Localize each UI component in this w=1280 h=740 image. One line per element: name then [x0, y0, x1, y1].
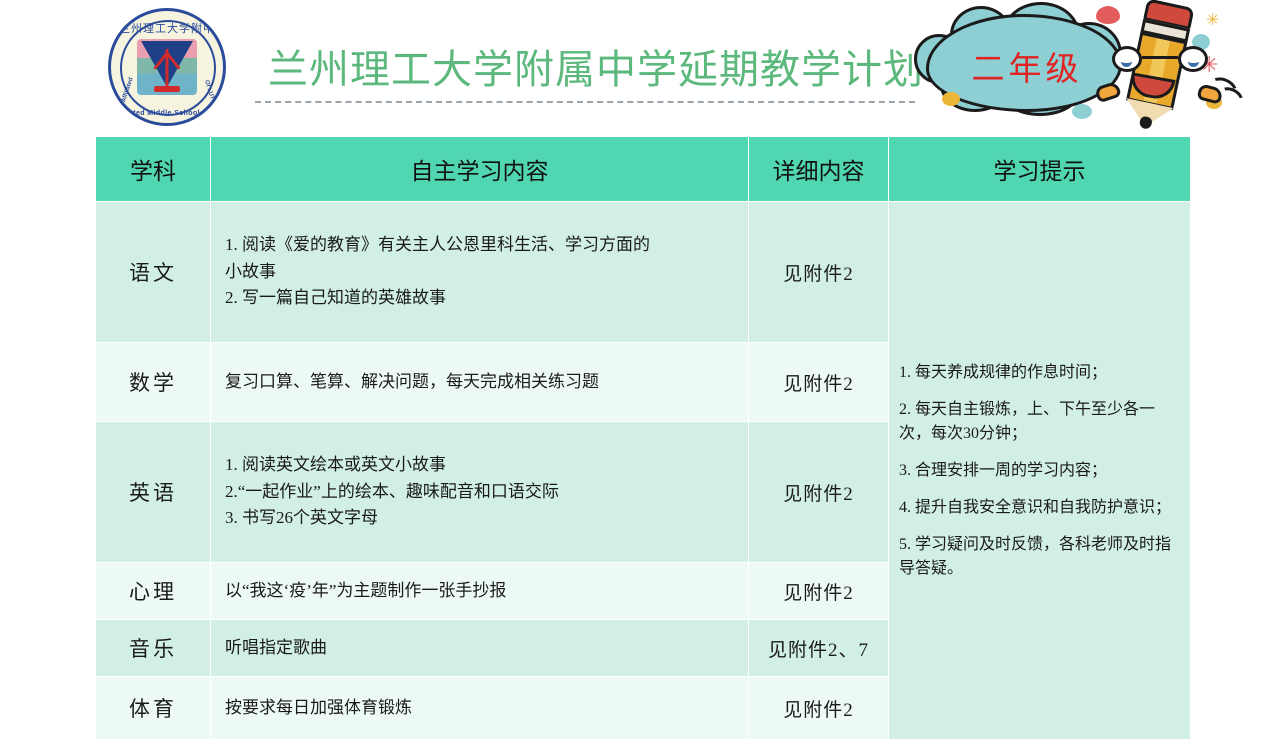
eye-right-icon [1188, 55, 1199, 67]
cell-detail: 见附件2 [749, 677, 889, 740]
cell-subject: 英语 [96, 422, 211, 563]
glasses-bridge-shape [1142, 56, 1178, 59]
table-header-row: 学科 自主学习内容 详细内容 学习提示 [96, 137, 1191, 202]
logo-shield-emblem [137, 39, 197, 95]
table-row: 语文 1. 阅读《爱的教育》有关主人公恩里科生活、学习方面的 小故事 2. 写一… [96, 202, 1191, 343]
content-line: 3. 书写26个英文字母 [225, 505, 748, 532]
content-line: 1. 阅读《爱的教育》有关主人公恩里科生活、学习方面的 [225, 232, 748, 259]
cell-detail: 见附件2 [749, 563, 889, 620]
confetti-icon [1096, 6, 1120, 24]
logo-chinese-name: 兰州理工大学附中 [111, 20, 223, 36]
cell-content: 以“我这‘疫’年”为主题制作一张手抄报 [211, 563, 749, 620]
column-header-subject: 学科 [96, 137, 211, 202]
eye-left-icon [1121, 55, 1132, 67]
content-line: 2. 写一篇自己知道的英雄故事 [225, 285, 748, 312]
confetti-icon [942, 92, 960, 106]
content-line: 小故事 [225, 259, 748, 286]
cell-detail: 见附件2 [749, 202, 889, 343]
tip-item: 4. 提升自我安全意识和自我防护意识； [899, 496, 1182, 520]
content-line: 复习口算、笔算、解决问题，每天完成相关练习题 [225, 369, 748, 396]
cell-subject: 数学 [96, 343, 211, 422]
content-line: 1. 阅读英文绘本或英文小故事 [225, 452, 748, 479]
cell-study-tips: 1. 每天养成规律的作息时间； 2. 每天自主锻炼，上、下午至少各一次，每次30… [889, 202, 1191, 740]
content-line: 按要求每日加强体育锻炼 [225, 695, 748, 722]
cell-content: 1. 阅读《爱的教育》有关主人公恩里科生活、学习方面的 小故事 2. 写一篇自己… [211, 202, 749, 343]
column-header-detail: 详细内容 [749, 137, 889, 202]
tip-item: 5. 学习疑问及时反馈，各科老师及时指导答疑。 [899, 533, 1182, 581]
cell-detail: 见附件2、7 [749, 620, 889, 677]
content-line: 2.“一起作业”上的绘本、趣味配音和口语交际 [225, 479, 748, 506]
logo-base-shape [154, 86, 180, 92]
glasses-icon [1112, 46, 1208, 72]
grade-label: 二年级 [944, 42, 1110, 90]
title-underline-divider [255, 101, 915, 103]
cell-subject: 体育 [96, 677, 211, 740]
content-line: 以“我这‘疫’年”为主题制作一张手抄报 [225, 578, 748, 605]
grade-badge: 二年级 ✳ ✳ [906, 0, 1276, 132]
column-header-tips: 学习提示 [889, 137, 1191, 202]
study-plan-table: 学科 自主学习内容 详细内容 学习提示 语文 1. 阅读《爱的教育》有关主人公恩… [95, 136, 1191, 740]
page-header: 兰州理工大学附中 Affiliated Of LUT Affiliated Mi… [0, 0, 1280, 132]
cell-content: 听唱指定歌曲 [211, 620, 749, 677]
tip-item: 3. 合理安排一周的学习内容； [899, 459, 1182, 483]
logo-english-name: Affiliated Middle School Of LUT [111, 110, 223, 117]
school-logo: 兰州理工大学附中 Affiliated Of LUT Affiliated Mi… [108, 8, 226, 126]
cell-subject: 音乐 [96, 620, 211, 677]
tip-item: 1. 每天养成规律的作息时间； [899, 361, 1182, 385]
content-line: 听唱指定歌曲 [225, 635, 748, 662]
cell-content: 1. 阅读英文绘本或英文小故事 2.“一起作业”上的绘本、趣味配音和口语交际 3… [211, 422, 749, 563]
sparkle-icon: ✳ [1206, 10, 1219, 30]
page-title: 兰州理工大学附属中学延期教学计划 [268, 46, 888, 94]
cell-subject: 语文 [96, 202, 211, 343]
column-header-content: 自主学习内容 [211, 137, 749, 202]
cell-content: 按要求每日加强体育锻炼 [211, 677, 749, 740]
cell-detail: 见附件2 [749, 343, 889, 422]
cell-detail: 见附件2 [749, 422, 889, 563]
confetti-icon [1072, 104, 1092, 119]
cell-content: 复习口算、笔算、解决问题，每天完成相关练习题 [211, 343, 749, 422]
cell-subject: 心理 [96, 563, 211, 620]
tip-item: 2. 每天自主锻炼，上、下午至少各一次，每次30分钟； [899, 398, 1182, 446]
